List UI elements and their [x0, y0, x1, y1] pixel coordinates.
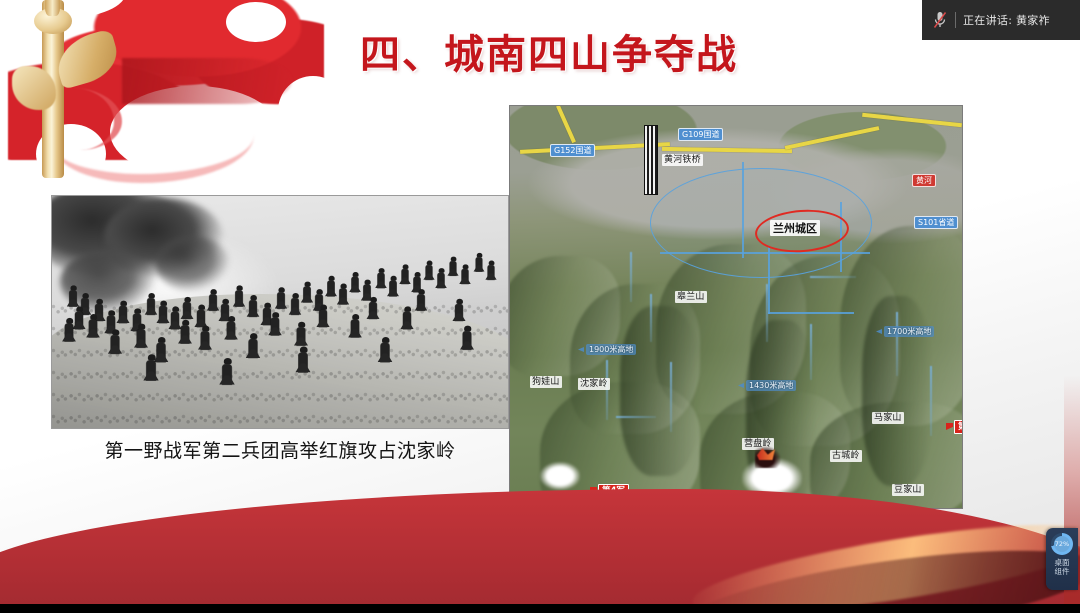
map-road-blue [742, 162, 744, 258]
desktop-widget-label: 桌面 组件 [1055, 558, 1070, 576]
soldier-figure [159, 306, 167, 323]
soldier-figure [209, 294, 217, 311]
soldier-figure [111, 335, 120, 354]
presentation-slide: 四、城南四山争夺战 第一野战军第二兵团高举红旗攻占沈家岭 [0, 0, 1080, 605]
map-stream [606, 360, 608, 420]
soldier-figure [222, 364, 231, 384]
soldier-figure [462, 269, 469, 284]
map-label-bridge: 黄河铁桥 [662, 154, 703, 166]
soldier-figure [89, 320, 97, 338]
map-label-place: 沈家岭 [578, 378, 610, 390]
flag-notch [226, 2, 286, 42]
map-stream [810, 276, 856, 278]
soldier-figure [263, 308, 271, 325]
map-label-city: 兰州城区 [770, 220, 820, 236]
soldier-figure [488, 265, 495, 280]
soldier-figure [69, 290, 77, 306]
map-label-place: 皋兰山 [675, 291, 707, 303]
soldier-figure [327, 281, 334, 297]
map-stream [896, 312, 898, 376]
soldier-figure [171, 312, 179, 329]
map-elevation-tag: 1900米高地 [586, 344, 636, 355]
soldier-figure [403, 312, 411, 329]
soldier-figure [235, 290, 243, 306]
soldier-figure [297, 327, 305, 345]
soldier-figure [137, 329, 146, 347]
map-elevation-tag: 1700米高地 [884, 326, 934, 337]
soldier-figure [249, 339, 258, 358]
soldier-figure [227, 322, 235, 340]
mic-muted-icon[interactable] [932, 10, 948, 30]
soldier-figure [147, 298, 155, 315]
map-road-blue [768, 246, 770, 314]
bottom-letterbox [0, 604, 1080, 613]
map-stream [810, 324, 812, 380]
soldier-figure [201, 331, 210, 349]
map-stream [630, 252, 632, 302]
speaker-status-text: 正在讲话: 黄家祚 [963, 12, 1050, 28]
map-stream [670, 362, 672, 432]
soldier-figure [463, 331, 472, 349]
soldier-figure [157, 343, 166, 362]
soldier-figure [146, 360, 155, 380]
progress-percent-text: 72% [1055, 540, 1069, 548]
map-river-label: 黄河 [912, 174, 936, 187]
map-stream [930, 366, 932, 436]
red-flag-emblem-decoration [0, 0, 330, 192]
soldier-figure [455, 304, 463, 321]
soldier-figure [65, 323, 73, 341]
soldier-figure [181, 325, 189, 343]
soldier-figure [377, 273, 384, 288]
speaker-status-bar[interactable]: 正在讲话: 黄家祚 [922, 0, 1080, 40]
map-label-place: 马家山 [872, 412, 904, 424]
soldier-figure [277, 292, 285, 308]
screen-root: 四、城南四山争夺战 第一野战军第二兵团高举红旗攻占沈家岭 [0, 0, 1080, 613]
soldier-figure [183, 302, 191, 319]
soldier-figure [402, 269, 409, 284]
map-elevation-tag: 1430米高地 [746, 380, 796, 391]
historical-battle-photo [52, 196, 508, 428]
military-unit-marker: 第63军 [954, 420, 962, 434]
soldier-figure [249, 300, 257, 317]
soldier-figure [291, 298, 299, 315]
bottom-red-ribbon-decoration [0, 445, 1080, 605]
soldier-figure [417, 294, 425, 311]
soldier-figure [476, 257, 483, 271]
soldier-figure [351, 277, 358, 292]
soldier-figure [271, 318, 279, 336]
map-highway-shield: S101省道 [914, 216, 958, 229]
slide-title: 四、城南四山争夺战 [360, 22, 800, 80]
map-label-place: 狗娃山 [530, 376, 562, 388]
map-stream [616, 416, 656, 418]
soldier-figure [319, 310, 327, 327]
widget-label-line1: 桌面 [1055, 558, 1070, 567]
soldier-figure [369, 302, 377, 319]
map-highway-shield: G109国道 [678, 128, 723, 141]
soldier-figure [351, 320, 359, 338]
photo-smoke-plume [156, 236, 230, 292]
map-road-blue [768, 312, 854, 314]
map-road-blue [660, 252, 870, 254]
map-highway-shield: G152国道 [550, 144, 595, 157]
soldier-figure [298, 353, 307, 373]
soldier-figure [426, 265, 433, 280]
progress-ring-icon[interactable]: 72% [1051, 533, 1073, 555]
soldier-figure [197, 310, 205, 327]
soldier-figure [339, 288, 346, 304]
desktop-widget-launcher[interactable]: 72% 桌面 组件 [1046, 528, 1078, 590]
soldier-figure [119, 306, 127, 323]
divider [955, 12, 956, 28]
soldier-figure [389, 281, 396, 297]
map-stream [650, 294, 652, 342]
soldier-figure [450, 261, 457, 276]
soldier-figure [437, 273, 444, 288]
widget-label-line2: 组件 [1055, 567, 1070, 576]
soldier-figure [381, 343, 390, 362]
right-edge-gradient [1064, 0, 1080, 605]
soldier-figure [75, 312, 83, 329]
soldier-figure [303, 287, 310, 303]
railway-bridge-marker [645, 126, 657, 194]
golden-pillar-tip [45, 0, 60, 16]
